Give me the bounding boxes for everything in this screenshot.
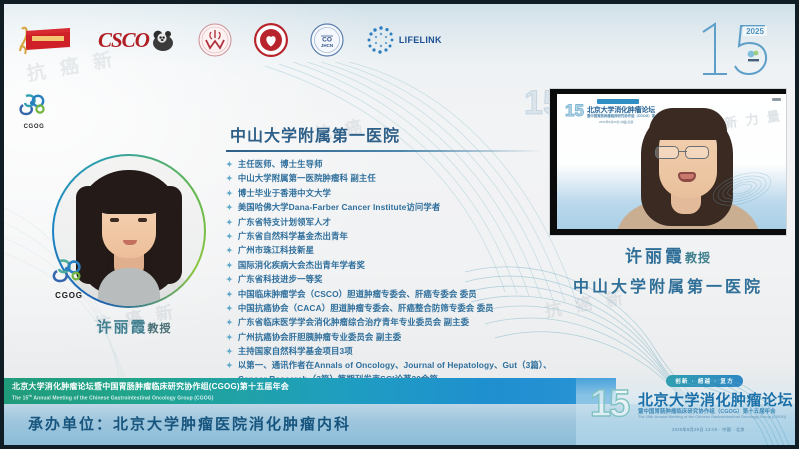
slide-content: 中山大学附属第一医院 ✦主任医师、博士生导师✦中山大学附属第一医院肿瘤科 副主任… [226, 122, 556, 401]
bullet-marker-icon: ✦ [226, 345, 233, 358]
credential-item: ✦广州抗癌协会肝胆胰肿瘤专业委员会 副主委 [226, 331, 556, 344]
credential-text: 主持国家自然科学基金项目3项 [238, 345, 556, 358]
speaker-organization: 中山大学附属第一医院 [549, 273, 787, 297]
cgog-wordmark: CGOG [48, 291, 90, 300]
lifelink-wordmark: LIFELINK [399, 35, 442, 45]
sponsor-logo-bar: CSCO [4, 4, 795, 76]
credential-text: 美国哈佛大学Dana-Farber Cancer Institute访问学者 [238, 201, 556, 214]
banner-en-post: Annual Meeting of the Chinese Gastrointe… [32, 396, 213, 402]
speaker-name-text: 许丽霞 [625, 247, 685, 267]
credential-text: 博士毕业于香港中文大学 [238, 187, 556, 200]
banner-chinese-title: 北京大学消化肿瘤论坛暨中国胃肠肿瘤临床研究协作组(CGOG)第十五届年会 [12, 381, 616, 392]
video-swirl-decoration [700, 157, 784, 221]
csco-wordmark: CSCO [98, 28, 149, 53]
credential-item: ✦博士毕业于香港中文大学 [226, 187, 556, 200]
cgog-swirl-icon [48, 257, 90, 285]
bullet-marker-icon: ✦ [226, 359, 233, 372]
bullet-marker-icon: ✦ [226, 302, 233, 315]
conference-banner-bar: 北京大学消化肿瘤论坛暨中国胃肠肿瘤临床研究协作组(CGOG)第十五届年会 The… [4, 378, 616, 404]
credential-item: ✦国际消化疾病大会杰出青年学者奖 [226, 259, 556, 272]
credential-item: ✦广东省特支计划领军人才 [226, 216, 556, 229]
bullet-marker-icon: ✦ [226, 244, 233, 257]
backdrop-date: 2025年8月29日 中国·北京 [599, 120, 634, 124]
speaker-title-suffix: 教授 [685, 251, 711, 265]
credential-text: 广东省自然科学基金杰出青年 [238, 230, 556, 243]
credential-item: ✦主持国家自然科学基金项目3项 [226, 345, 556, 358]
frame-edge-bottom [0, 445, 799, 449]
portrait-title-suffix: 教授 [148, 322, 172, 335]
credential-text: 广州市珠江科技新星 [238, 244, 556, 257]
backdrop-15-number: 15 [565, 101, 584, 121]
cgog-logo-badge: CGOG [48, 257, 90, 300]
credential-text: 中山大学附属第一医院肿瘤科 副主任 [238, 172, 556, 185]
credential-text: 广东省科技进步一等奖 [238, 273, 556, 286]
lifelink-logo: LIFELINK [366, 25, 442, 55]
credential-text: 中国临床肿瘤学会（CSCO）胆道肿瘤专委会、肝癌专委会 委员 [238, 288, 556, 301]
credential-item: ✦中国抗癌协会（CACA）胆道肿瘤专委会、肝癌整合防筛专委会 委员 [226, 302, 556, 315]
speaker-portrait: CGOG [52, 154, 206, 308]
svg-text:2025: 2025 [746, 27, 764, 36]
speaker-name-line: 许丽霞教授 [549, 242, 787, 267]
credential-item: ✦美国哈佛大学Dana-Farber Cancer Institute访问学者 [226, 201, 556, 214]
credential-item: ✦中山大学附属第一医院肿瘤科 副主任 [226, 172, 556, 185]
bullet-marker-icon: ✦ [226, 288, 233, 301]
portrait-speaker-name: 许丽霞教授 [44, 316, 224, 337]
credential-text: 广东省临床医学学会消化肿瘤综合治疗青年专业委员会 副主委 [238, 316, 556, 329]
banner-english-title: The 15th Annual Meeting of the Chinese G… [12, 394, 616, 402]
frame-edge-left [0, 0, 4, 449]
red-flag-logo-icon [18, 23, 76, 57]
frame-edge-right [795, 0, 799, 449]
credential-item: ✦中国临床肿瘤学会（CSCO）胆道肿瘤专委会、肝癌专委会 委员 [226, 288, 556, 301]
bullet-marker-icon: ✦ [226, 158, 233, 171]
lifelink-dots-icon [366, 25, 396, 55]
credential-text: 中国抗癌协会（CACA）胆道肿瘤专委会、肝癌整合防筛专委会 委员 [238, 302, 556, 315]
conference-15-number: 15 [590, 385, 628, 423]
medical-association-logo-icon [198, 23, 232, 57]
panda-icon [150, 27, 176, 53]
screen-capture: 15 抗 癌 新 抗 癌 新 抗 癌 抗 癌 新 抗 癌 新 抗 癌 新 力 量… [0, 0, 799, 449]
credential-item: ✦广州市珠江科技新星 [226, 244, 556, 257]
jhcn-logo-icon: CO JHCN [310, 23, 344, 57]
credential-text: 国际消化疾病大会杰出青年学者奖 [238, 259, 556, 272]
cgog-swirl-icon [14, 92, 54, 118]
bullet-marker-icon: ✦ [226, 216, 233, 229]
credential-item: ✦主任医师、博士生导师 [226, 158, 556, 171]
cgog-logo-small: CGOG [14, 92, 54, 130]
speaker-caption: 许丽霞教授 中山大学附属第一医院 [549, 242, 787, 297]
credential-item: ✦广东省科技进步一等奖 [226, 273, 556, 286]
footer-strip: 承办单位：北京大学肿瘤医院消化肿瘤内科 创新 · 超越 · 复方 15 北京大学… [4, 404, 795, 445]
bullet-marker-icon: ✦ [226, 331, 233, 344]
credentials-list: ✦主任医师、博士生导师✦中山大学附属第一医院肿瘤科 副主任✦博士毕业于香港中文大… [226, 158, 556, 400]
bullet-marker-icon: ✦ [226, 230, 233, 243]
anniversary-15-badge-icon: 2025 [689, 14, 781, 80]
credential-text: 广东省特支计划领军人才 [238, 216, 556, 229]
video-feed-panel[interactable]: 15 北京大学消化肿瘤论坛 暨中国胃肠肿瘤临床研究协作组（CGOG）第十五届年会… [549, 88, 787, 236]
conference-logo-lockup: 创新 · 超越 · 复方 15 北京大学消化肿瘤论坛 暨中国胃肠肿瘤临床研究协作… [576, 369, 795, 445]
bullet-marker-icon: ✦ [226, 187, 233, 200]
banner-en-pre: The 15 [12, 396, 28, 402]
title-underline [226, 150, 542, 152]
bullet-marker-icon: ✦ [226, 316, 233, 329]
cgog-wordmark: CGOG [14, 124, 54, 130]
conference-swirl-decoration [685, 379, 795, 445]
svg-text:JHCN: JHCN [321, 43, 333, 48]
backdrop-tag-bar [597, 99, 639, 104]
portrait-name-text: 许丽霞 [96, 318, 147, 336]
credential-item: ✦广东省临床医学学会消化肿瘤综合治疗青年专业委员会 副主委 [226, 316, 556, 329]
credential-text: 主任医师、博士生导师 [238, 158, 556, 171]
bullet-marker-icon: ✦ [226, 259, 233, 272]
host-organization-line: 承办单位：北京大学肿瘤医院消化肿瘤内科 [28, 413, 351, 434]
video-feed-image: 15 北京大学消化肿瘤论坛 暨中国胃肠肿瘤临床研究协作组（CGOG）第十五届年会… [557, 94, 786, 229]
presentation-slide: 15 抗 癌 新 抗 癌 新 抗 癌 抗 癌 新 抗 癌 新 抗 癌 新 力 量… [4, 4, 795, 445]
csco-logo: CSCO [98, 27, 176, 53]
credential-item: ✦广东省自然科学基金杰出青年 [226, 230, 556, 243]
bullet-marker-icon: ✦ [226, 172, 233, 185]
heart-foundation-logo-icon [254, 23, 288, 57]
bullet-marker-icon: ✦ [226, 273, 233, 286]
frame-edge-top [0, 0, 799, 4]
bullet-marker-icon: ✦ [226, 201, 233, 214]
slide-title: 中山大学附属第一医院 [226, 122, 556, 146]
credential-text: 广州抗癌协会肝胆胰肿瘤专业委员会 副主委 [238, 331, 556, 344]
video-menu-icon[interactable] [772, 98, 781, 101]
